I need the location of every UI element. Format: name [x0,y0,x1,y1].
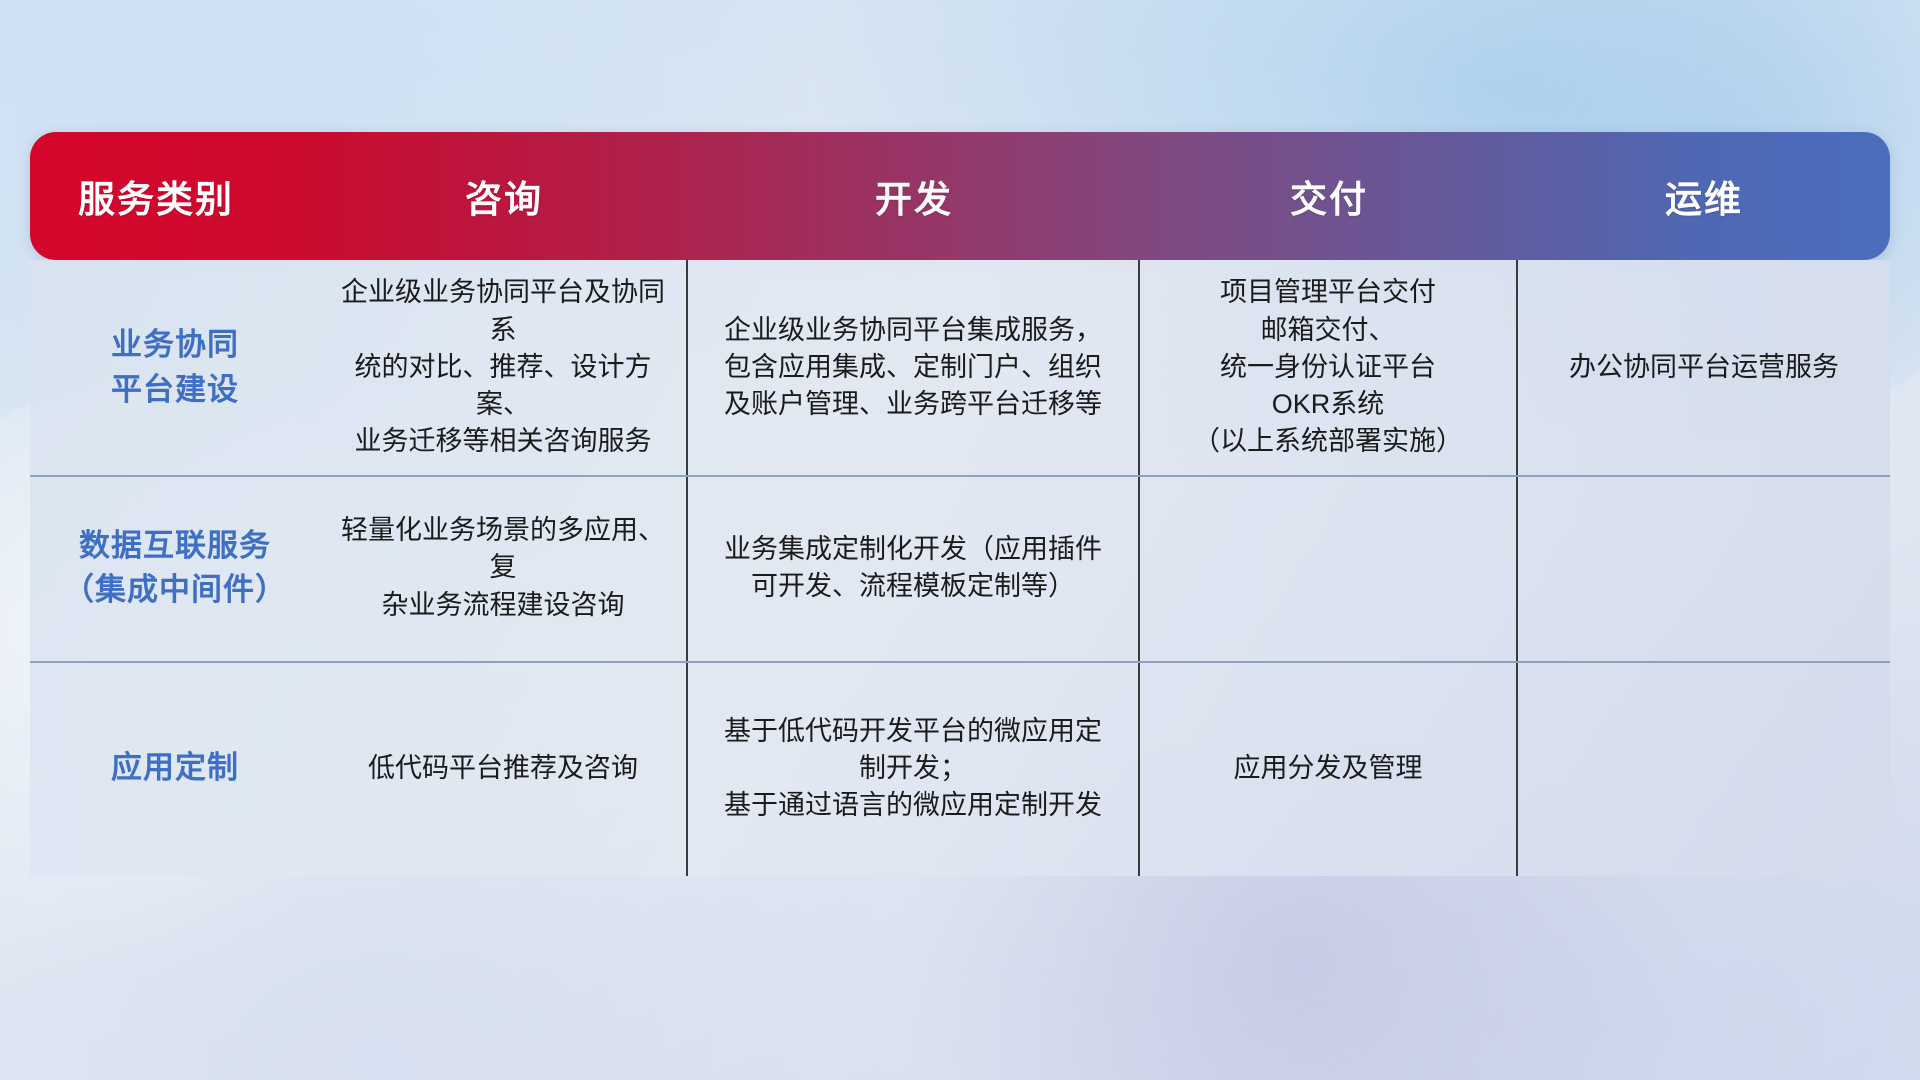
column-header-consulting: 咨询 [320,132,688,260]
cell-operations [1518,661,1890,876]
cell-development: 业务集成定制化开发（应用插件 可开发、流程模板定制等） [688,475,1140,661]
cell-development: 企业级业务协同平台集成服务， 包含应用集成、定制门户、组织 及账户管理、业务跨平… [688,260,1140,475]
row-category-label: 业务协同 平台建设 [30,260,320,475]
cell-development: 基于低代码开发平台的微应用定 制开发； 基于通过语言的微应用定制开发 [688,661,1140,876]
column-header-delivery: 交付 [1140,132,1518,260]
cell-delivery: 项目管理平台交付 邮箱交付、 统一身份认证平台 OKR系统 （以上系统部署实施） [1140,260,1518,475]
table-row: 数据互联服务 （集成中间件） 轻量化业务场景的多应用、复 杂业务流程建设咨询 业… [30,475,1890,661]
table-header-row: 服务类别 咨询 开发 交付 运维 [30,132,1890,260]
table-body: 业务协同 平台建设 企业级业务协同平台及协同系 统的对比、推荐、设计方案、 业务… [30,260,1890,876]
cell-operations [1518,475,1890,661]
cell-delivery [1140,475,1518,661]
cell-consulting: 轻量化业务场景的多应用、复 杂业务流程建设咨询 [320,475,688,661]
cell-delivery: 应用分发及管理 [1140,661,1518,876]
column-header-development: 开发 [688,132,1140,260]
cell-consulting: 低代码平台推荐及咨询 [320,661,688,876]
cell-consulting: 企业级业务协同平台及协同系 统的对比、推荐、设计方案、 业务迁移等相关咨询服务 [320,260,688,475]
service-matrix-table: 服务类别 咨询 开发 交付 运维 业务协同 平台建设 企业级业务协同平台及协同系… [30,132,1890,876]
table-row: 业务协同 平台建设 企业级业务协同平台及协同系 统的对比、推荐、设计方案、 业务… [30,260,1890,475]
column-header-operations: 运维 [1518,132,1890,260]
column-header-service-category: 服务类别 [30,132,320,260]
row-category-label: 数据互联服务 （集成中间件） [30,475,320,661]
cell-operations: 办公协同平台运营服务 [1518,260,1890,475]
row-category-label: 应用定制 [30,661,320,876]
table-row: 应用定制 低代码平台推荐及咨询 基于低代码开发平台的微应用定 制开发； 基于通过… [30,661,1890,876]
